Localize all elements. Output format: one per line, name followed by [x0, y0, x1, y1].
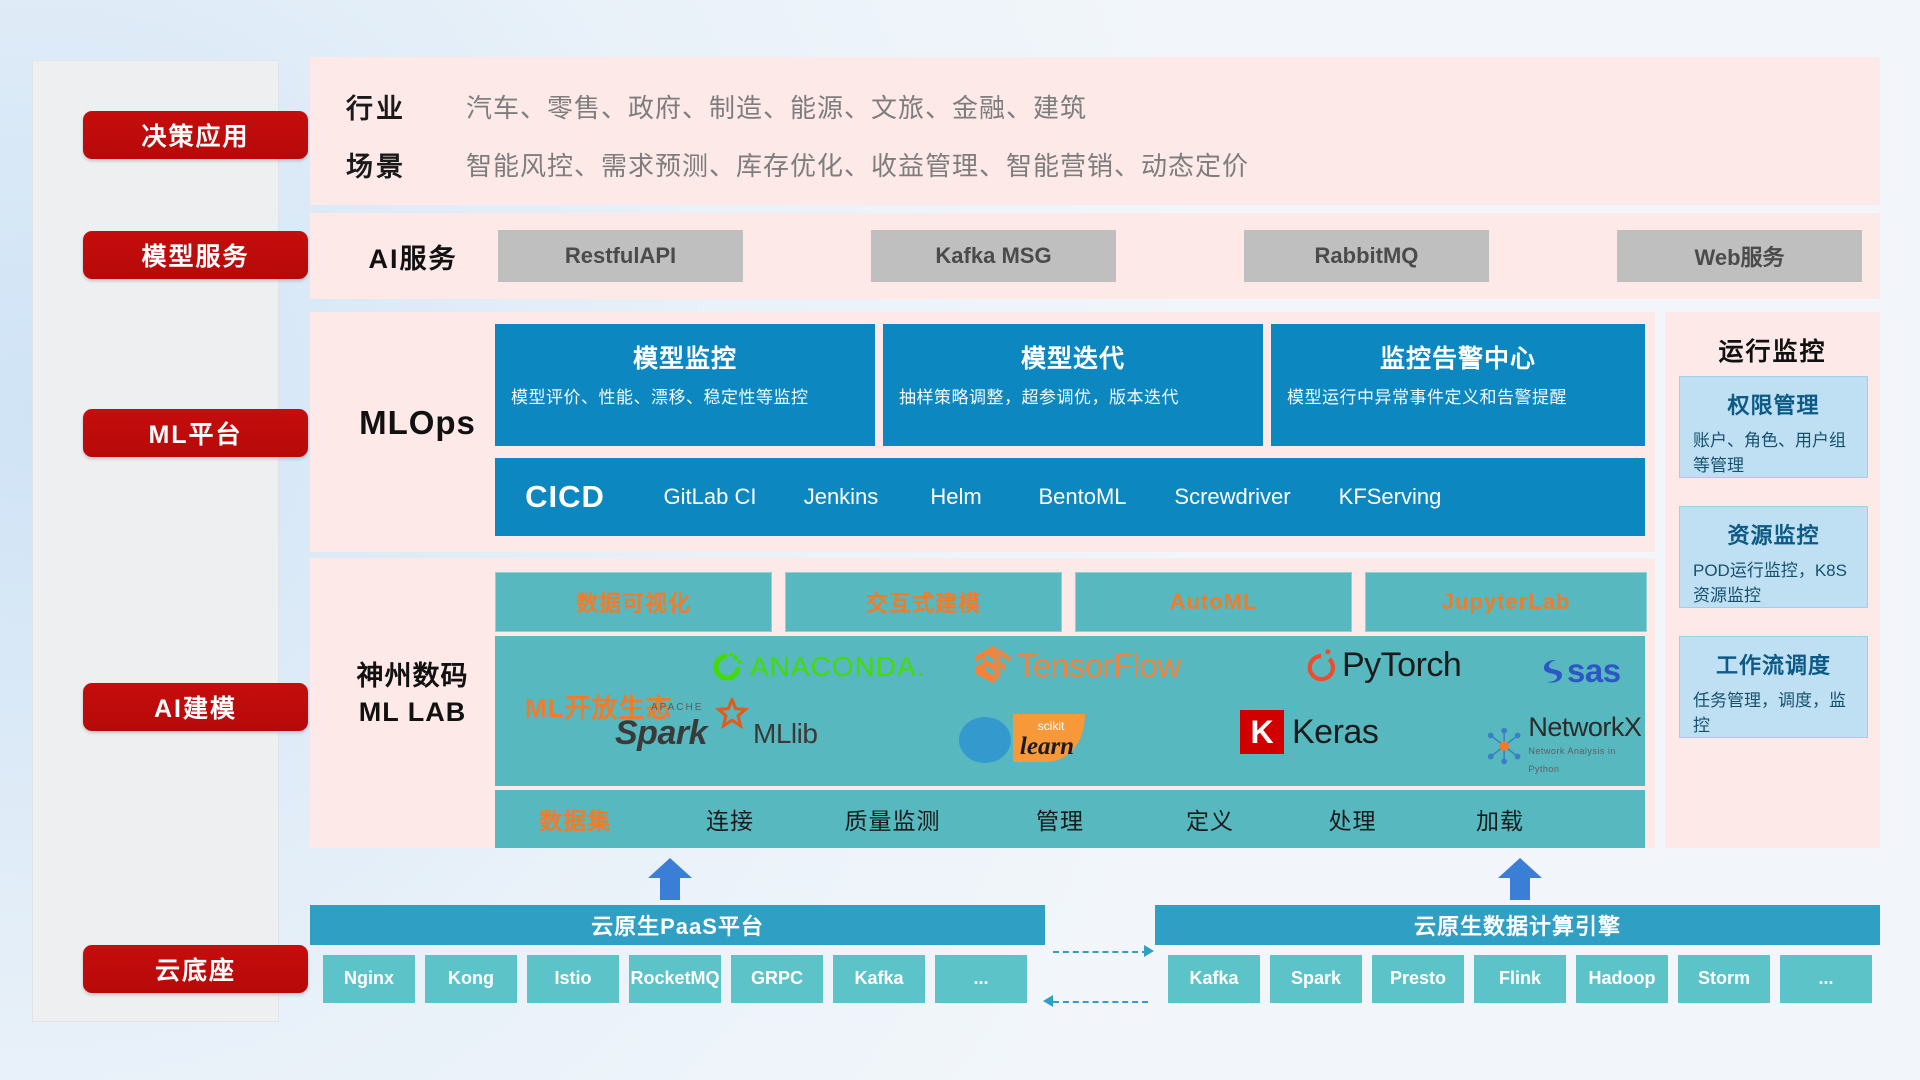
anaconda-logo: ANACONDA. [710, 650, 925, 684]
dataset-item-connect[interactable]: 连接 [655, 802, 805, 836]
tool-chip-jupyterlab[interactable]: JupyterLab [1365, 572, 1647, 632]
compute-cube-spark[interactable]: Spark [1270, 955, 1362, 1003]
data-compute-label: 云原生数据计算引擎 [1414, 909, 1621, 941]
mlops-card-model-monitoring[interactable]: 模型监控 模型评价、性能、漂移、稳定性等监控 [495, 324, 875, 446]
cicd-item-helm[interactable]: Helm [897, 484, 1015, 509]
paas-cube-grpc[interactable]: GRPC [731, 955, 823, 1003]
runtime-monitor-title: 运行监控 [1665, 332, 1880, 368]
service-chip-rabbitmq[interactable]: RabbitMQ [1244, 230, 1489, 282]
paas-cube-istio[interactable]: Istio [527, 955, 619, 1003]
chip-label: JupyterLab [1442, 589, 1571, 615]
card-desc: 抽样策略调整，超参调优，版本迭代 [899, 386, 1247, 411]
rail-item-decision[interactable]: 决策应用 [83, 111, 308, 159]
industry-values: 汽车、零售、政府、制造、能源、文旅、金融、建筑 [466, 88, 1087, 125]
keras-logo: K Keras [1240, 710, 1378, 754]
paas-cube-kafka[interactable]: Kafka [833, 955, 925, 1003]
svg-text:scikit: scikit [1038, 719, 1065, 733]
spark-star-icon [715, 698, 749, 732]
chip-label: RabbitMQ [1315, 243, 1419, 269]
dataset-label: 数据集 [495, 802, 655, 836]
card-desc: 账户、角色、用户组等管理 [1693, 429, 1854, 478]
card-title: 资源监控 [1680, 518, 1867, 550]
rail-item-cloud-base[interactable]: 云底座 [83, 945, 308, 993]
service-chip-kafka-msg[interactable]: Kafka MSG [871, 230, 1116, 282]
card-title: 模型监控 [495, 339, 875, 375]
scene-label: 场景 [346, 145, 466, 184]
mlops-label: MLOps [330, 404, 505, 442]
card-desc: 任务管理，调度，监控 [1693, 689, 1854, 738]
networkx-wordmark: NetworkX [1528, 714, 1645, 741]
apache-wordmark: APACHE [651, 702, 703, 713]
cicd-item-screwdriver[interactable]: Screwdriver [1150, 484, 1315, 509]
paas-cube-rocketmq[interactable]: RocketMQ [629, 955, 721, 1003]
card-desc: POD运行监控，K8S资源监控 [1693, 559, 1854, 608]
mllib-wordmark: MLlib [753, 718, 817, 750]
rail-label: 决策应用 [141, 117, 249, 153]
sas-mark-icon [1535, 656, 1565, 686]
rail-item-ai-modeling[interactable]: AI建模 [83, 683, 308, 731]
pytorch-mark-icon [1305, 647, 1337, 685]
service-chip-restfulapi[interactable]: RestfulAPI [498, 230, 743, 282]
tensorflow-wordmark: TensorFlow [1017, 647, 1181, 685]
mlops-card-alert-center[interactable]: 监控告警中心 模型运行中异常事件定义和告警提醒 [1271, 324, 1645, 446]
chip-label: AutoML [1170, 589, 1258, 615]
compute-up-arrow-icon [1498, 858, 1542, 900]
rail-item-ml-platform[interactable]: ML平台 [83, 409, 308, 457]
cicd-item-bentoml[interactable]: BentoML [1015, 484, 1150, 509]
anaconda-wordmark: ANACONDA. [750, 651, 925, 683]
svg-text:learn: learn [1020, 733, 1074, 760]
rail-label: 云底座 [155, 951, 236, 987]
tool-chip-data-visualization[interactable]: 数据可视化 [495, 572, 772, 632]
scikit-learn-mark-icon: scikit learn [955, 710, 1095, 766]
dataset-item-quality[interactable]: 质量监测 [805, 802, 980, 836]
connector-line-right [1053, 951, 1148, 953]
pytorch-wordmark: PyTorch [1342, 646, 1461, 685]
connector-arrow-left-icon [1043, 995, 1053, 1007]
sas-wordmark: sas [1567, 652, 1621, 690]
tool-chip-automl[interactable]: AutoML [1075, 572, 1352, 632]
tool-chip-interactive-modeling[interactable]: 交互式建模 [785, 572, 1062, 632]
card-title: 工作流调度 [1680, 648, 1867, 680]
dataset-item-load[interactable]: 加载 [1425, 802, 1575, 836]
chip-label: Web服务 [1694, 240, 1784, 272]
paas-platform-label: 云原生PaaS平台 [591, 909, 764, 941]
rail-label: AI建模 [154, 689, 237, 725]
dataset-row[interactable]: 数据集 连接 质量监测 管理 定义 处理 加载 [495, 790, 1645, 848]
runtime-monitor-panel: 运行监控 权限管理 账户、角色、用户组等管理 资源监控 POD运行监控，K8S资… [1665, 312, 1880, 848]
chip-label: RestfulAPI [565, 243, 676, 269]
monitor-card-resource[interactable]: 资源监控 POD运行监控，K8S资源监控 [1679, 506, 1868, 608]
card-desc: 模型评价、性能、漂移、稳定性等监控 [511, 386, 859, 411]
ml-lab-label-line1: 神州数码 [320, 658, 505, 694]
rail-label: ML平台 [148, 415, 242, 451]
monitor-card-permission[interactable]: 权限管理 账户、角色、用户组等管理 [1679, 376, 1868, 478]
compute-cube-hadoop[interactable]: Hadoop [1576, 955, 1668, 1003]
monitor-card-workflow[interactable]: 工作流调度 任务管理，调度，监控 [1679, 636, 1868, 738]
ai-service-label: AI服务 [338, 237, 488, 276]
chip-label: Kafka MSG [935, 243, 1051, 269]
tensorflow-mark-icon [975, 646, 1011, 686]
paas-platform-bar[interactable]: 云原生PaaS平台 [310, 905, 1045, 945]
paas-cube-more[interactable]: ... [935, 955, 1027, 1003]
networkx-tagline: Network Analysis in Python [1528, 746, 1616, 774]
mlops-card-model-iteration[interactable]: 模型迭代 抽样策略调整，超参调优，版本迭代 [883, 324, 1263, 446]
compute-cube-storm[interactable]: Storm [1678, 955, 1770, 1003]
dataset-item-manage[interactable]: 管理 [980, 802, 1140, 836]
paas-cube-nginx[interactable]: Nginx [323, 955, 415, 1003]
card-title: 权限管理 [1680, 388, 1867, 420]
spark-wordmark: Spark [615, 714, 707, 752]
card-title: 模型迭代 [883, 339, 1263, 375]
keras-mark-icon: K [1240, 710, 1284, 754]
cicd-item-gitlab-ci[interactable]: GitLab CI [635, 484, 785, 509]
chip-label: 交互式建模 [866, 586, 981, 618]
connector-arrow-right-icon [1144, 945, 1154, 957]
architecture-diagram: 决策应用 模型服务 ML平台 AI建模 云底座 行业 汽车、零售、政府、制造、能… [0, 0, 1920, 1080]
keras-wordmark: Keras [1292, 713, 1378, 752]
ml-lab-label-line2: ML LAB [320, 694, 505, 730]
chip-label: 数据可视化 [576, 586, 691, 618]
tensorflow-logo: TensorFlow [975, 646, 1181, 686]
paas-cube-kong[interactable]: Kong [425, 955, 517, 1003]
apache-spark-mllib-logo: APACHE Spark MLlib [615, 714, 817, 753]
scikit-learn-logo: scikit learn [955, 710, 1095, 766]
compute-cube-flink[interactable]: Flink [1474, 955, 1566, 1003]
ai-service-panel: AI服务 RestfulAPI Kafka MSG RabbitMQ Web服务 [310, 213, 1880, 299]
sas-logo: sas [1535, 652, 1621, 690]
card-desc: 模型运行中异常事件定义和告警提醒 [1287, 386, 1629, 411]
rail-item-model-service[interactable]: 模型服务 [83, 231, 308, 279]
anaconda-mark-icon [710, 650, 744, 684]
ml-lab-label: 神州数码 ML LAB [320, 658, 505, 731]
service-chip-web[interactable]: Web服务 [1617, 230, 1862, 282]
dataset-item-process[interactable]: 处理 [1280, 802, 1425, 836]
pytorch-logo: PyTorch [1305, 646, 1461, 685]
cicd-row[interactable]: CICD GitLab CI Jenkins Helm BentoML Scre… [495, 458, 1645, 536]
compute-cube-presto[interactable]: Presto [1372, 955, 1464, 1003]
industry-scene-panel: 行业 汽车、零售、政府、制造、能源、文旅、金融、建筑 场景 智能风控、需求预测、… [310, 57, 1880, 205]
industry-label: 行业 [346, 87, 466, 126]
connector-line-left [1053, 1001, 1148, 1003]
rail-label: 模型服务 [141, 237, 249, 273]
compute-cube-kafka[interactable]: Kafka [1168, 955, 1260, 1003]
paas-up-arrow-icon [648, 858, 692, 900]
compute-cube-more[interactable]: ... [1780, 955, 1872, 1003]
layer-rail: 决策应用 模型服务 ML平台 AI建模 云底座 [32, 60, 279, 1022]
dataset-item-define[interactable]: 定义 [1140, 802, 1280, 836]
cicd-label: CICD [495, 479, 635, 515]
data-compute-bar[interactable]: 云原生数据计算引擎 [1155, 905, 1880, 945]
scene-values: 智能风控、需求预测、库存优化、收益管理、智能营销、动态定价 [466, 146, 1249, 183]
card-title: 监控告警中心 [1271, 339, 1645, 375]
networkx-mark-icon [1485, 726, 1523, 766]
networkx-logo: NetworkX Network Analysis in Python [1485, 714, 1645, 777]
cicd-item-jenkins[interactable]: Jenkins [785, 484, 897, 509]
cicd-item-kfserving[interactable]: KFServing [1315, 484, 1465, 509]
ml-ecosystem-band: ML开放生态 ANACONDA. TensorFlow PyTorc [495, 636, 1645, 786]
